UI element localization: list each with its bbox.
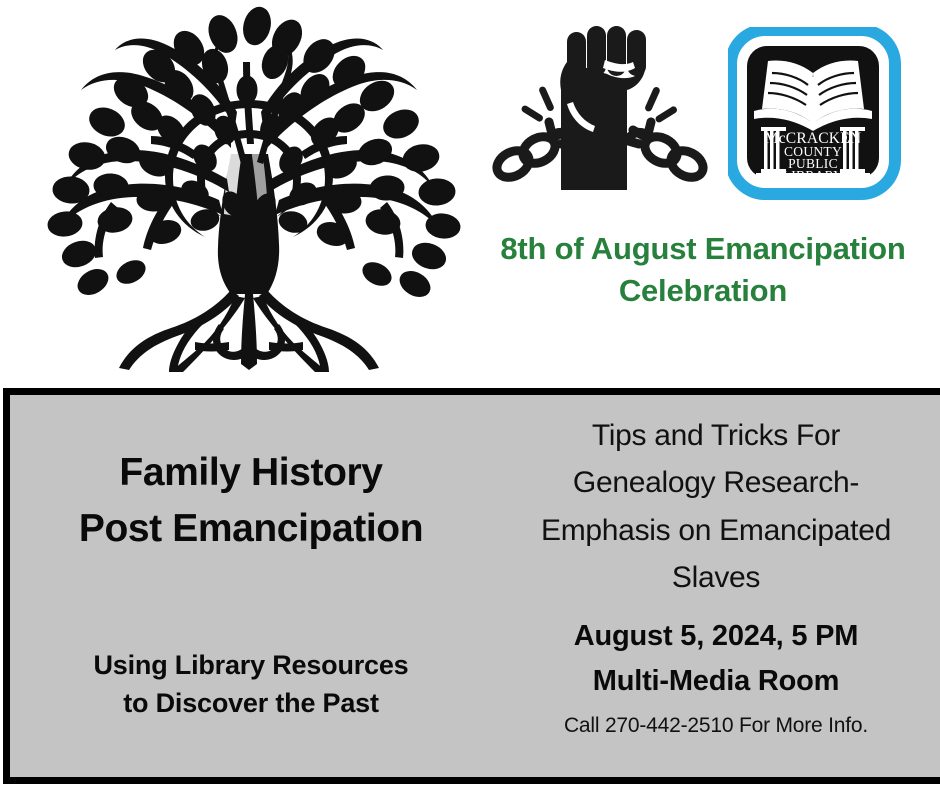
raised-fist-breaking-chains-icon [487, 18, 713, 204]
tree-of-life-icon [18, 4, 480, 372]
event-heading: 8th of August Emancipation Celebration [468, 228, 938, 311]
mccracken-county-public-library-logo: McCRACKEN COUNTY PUBLIC LIBRARY [728, 27, 910, 205]
program-datetime-location: August 5, 2024, 5 PM Multi-Media Room [492, 614, 940, 704]
program-subtitle: Using Library Resources to Discover the … [10, 646, 492, 723]
program-subtitle-line-2: to Discover the Past [10, 684, 492, 722]
program-location: Multi-Media Room [492, 659, 940, 704]
program-description-line-3: Emphasis on Emancipated [492, 507, 940, 554]
program-description-line-2: Genealogy Research- [492, 459, 940, 506]
details-panel: Family History Post Emancipation Using L… [3, 388, 940, 784]
program-title-line-1: Family History [10, 445, 492, 501]
program-title-line-2: Post Emancipation [10, 501, 492, 557]
logo-line-4: LIBRARY [783, 168, 844, 183]
program-subtitle-line-1: Using Library Resources [10, 646, 492, 684]
program-description-line-1: Tips and Tricks For [492, 412, 940, 459]
program-contact: Call 270-442-2510 For More Info. [492, 714, 940, 738]
event-flyer: McCRACKEN COUNTY PUBLIC LIBRARY 8th of A… [0, 0, 940, 788]
program-description-line-4: Slaves [492, 554, 940, 601]
program-date-time: August 5, 2024, 5 PM [492, 614, 940, 659]
event-heading-line-1: 8th of August Emancipation [468, 228, 938, 270]
details-panel-right: Tips and Tricks For Genealogy Research- … [492, 395, 940, 777]
program-description: Tips and Tricks For Genealogy Research- … [492, 412, 940, 602]
details-panel-left: Family History Post Emancipation Using L… [10, 395, 492, 777]
flyer-header-section: McCRACKEN COUNTY PUBLIC LIBRARY 8th of A… [0, 0, 940, 388]
event-heading-line-2: Celebration [468, 270, 938, 312]
program-title: Family History Post Emancipation [10, 445, 492, 557]
